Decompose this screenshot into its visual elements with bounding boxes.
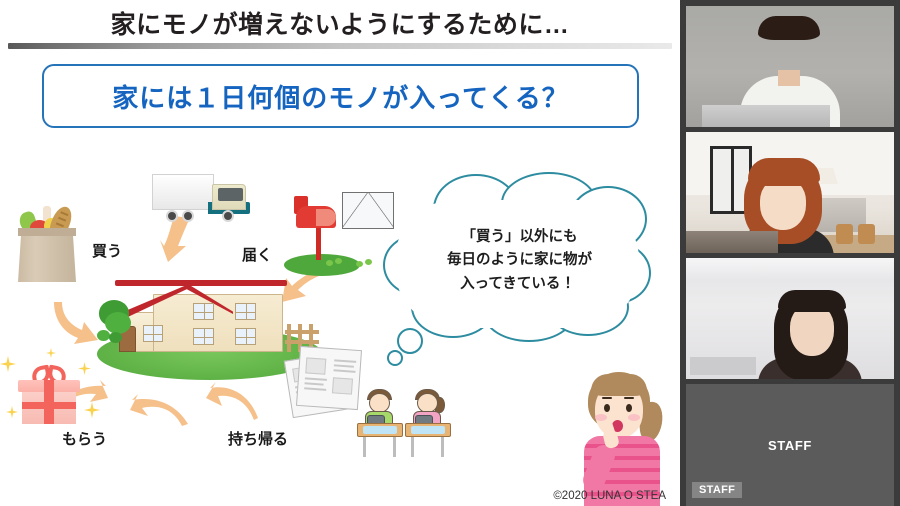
thinking-woman-illustration — [574, 372, 670, 506]
participant-filmstrip: STAFF STAFF — [680, 0, 900, 506]
label-buy: 買う — [92, 240, 122, 261]
screen-share-window: 家にモノが増えないようにするために… 家には１日何個のモノが入ってくる？ — [0, 0, 900, 506]
grocery-bag-icon — [14, 208, 80, 282]
virtual-bg-stool — [836, 224, 853, 244]
video-tile-3[interactable] — [686, 258, 894, 379]
label-bring-home: 持ち帰る — [228, 428, 288, 449]
participant-fringe — [778, 290, 846, 312]
presentation-slide: 家にモノが増えないようにするために… 家には１日何個のモノが入ってくる？ — [0, 0, 680, 506]
copyright-notice: ©2020 LUNA O STEA — [553, 490, 666, 502]
question-callout-box: 家には１日何個のモノが入ってくる？ — [42, 64, 639, 128]
laptop-blur — [690, 357, 756, 375]
video-tile-1[interactable] — [686, 6, 894, 127]
sparkle-icon — [6, 406, 18, 418]
label-delivered: 届く — [242, 244, 272, 265]
participant-fringe — [758, 16, 820, 40]
video-tile-4-placeholder[interactable]: STAFF STAFF — [686, 384, 894, 506]
students-at-desks-icon — [355, 385, 455, 457]
sparkle-icon — [46, 348, 56, 358]
sparkle-icon — [0, 356, 16, 372]
laptop-blur — [702, 105, 830, 127]
shared-screen-area: 家にモノが増えないようにするために… 家には１日何個のモノが入ってくる？ — [0, 0, 680, 506]
delivery-truck-icon — [152, 172, 256, 230]
gift-box-icon — [18, 366, 80, 424]
arrow-bringhome-to-house — [130, 392, 188, 432]
placeholder-name: STAFF — [768, 438, 812, 453]
arrow-news-to-house — [206, 382, 260, 426]
mailbox-envelope-icon — [282, 188, 386, 280]
foreground-blur — [686, 231, 778, 253]
slide-title: 家にモノが増えないようにするために… — [0, 4, 680, 42]
thought-bubble-tail-large — [397, 328, 423, 354]
video-tile-2[interactable] — [686, 132, 894, 253]
participant-neck — [778, 70, 800, 86]
virtual-bg-stool — [858, 224, 875, 244]
participant-name-tag: STAFF — [692, 482, 742, 498]
label-received: もらう — [62, 428, 107, 449]
title-divider — [8, 43, 672, 49]
thought-bubble-tail-small — [387, 350, 403, 366]
question-text: 家には１日何個のモノが入ってくる？ — [112, 78, 568, 115]
room-ceiling — [686, 258, 894, 280]
thought-bubble: 「買う」以外にも 毎日のように家に物が 入ってきている ！ — [383, 172, 651, 350]
thought-bubble-text: 「買う」以外にも 毎日のように家に物が 入ってきている ！ — [417, 226, 622, 296]
participant-fringe — [748, 158, 820, 186]
arrow-buy-to-house — [52, 300, 98, 346]
